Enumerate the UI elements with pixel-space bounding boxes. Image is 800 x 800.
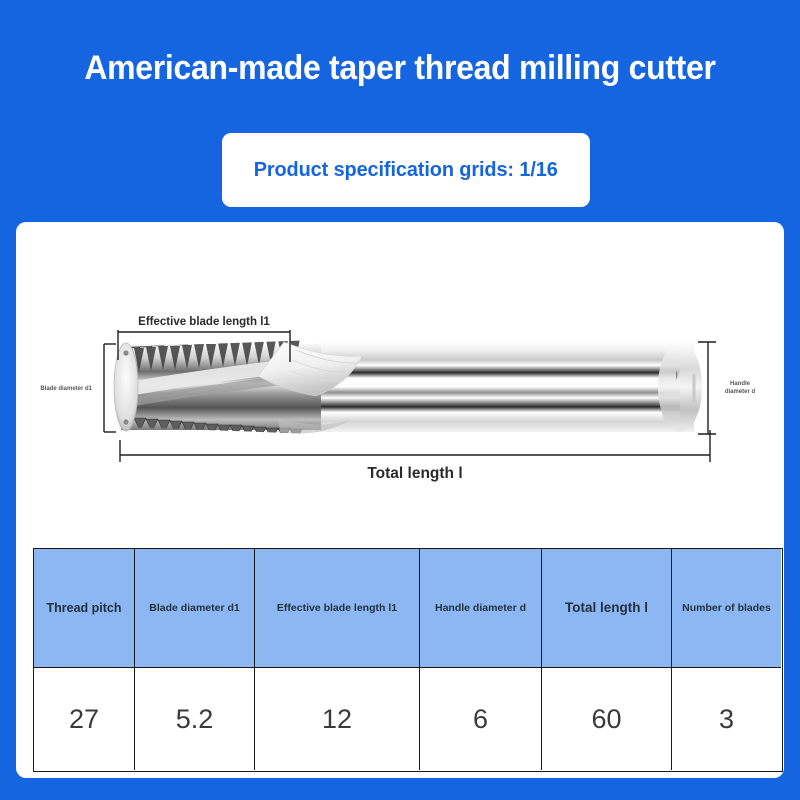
- column-header-total-length: Total length l: [542, 549, 672, 667]
- column-header-number-of-blades: Number of blades: [672, 549, 781, 667]
- value-effective-blade-length: 12: [255, 667, 420, 770]
- column-header-thread-pitch: Thread pitch: [34, 549, 135, 667]
- spec-grid-badge-label: Product specification grids: 1/16: [254, 158, 558, 182]
- value-thread-pitch: 27: [34, 667, 135, 770]
- value-blade-diameter: 5.2: [135, 667, 255, 770]
- value-number-of-blades: 3: [672, 667, 781, 770]
- table-header-row: Thread pitch Blade diameter d1 Effective…: [34, 549, 782, 667]
- value-handle-diameter: 6: [420, 667, 542, 770]
- specification-table: Thread pitch Blade diameter d1 Effective…: [33, 548, 783, 772]
- column-header-handle-diameter: Handle diameter d: [420, 549, 542, 667]
- column-header-effective-blade-length: Effective blade length l1: [255, 549, 420, 667]
- page-title: American-made taper thread milling cutte…: [62, 49, 739, 88]
- tool-illustration: [114, 328, 702, 441]
- product-spec-page: American-made taper thread milling cutte…: [0, 0, 800, 800]
- content-panel: Effective blade length l1 Blade diameter…: [16, 222, 784, 778]
- effective-blade-length-label: Effective blade length l1: [138, 316, 270, 328]
- dimension-total-length: [120, 430, 710, 462]
- table-value-row: 27 5.2 12 6 60 3: [34, 667, 782, 770]
- total-length-label: Total length l: [367, 465, 462, 482]
- spec-grid-badge[interactable]: Product specification grids: 1/16: [222, 133, 590, 207]
- value-total-length: 60: [542, 667, 672, 770]
- handle-diameter-label-line2: diameter d: [725, 389, 756, 395]
- tool-diagram: Effective blade length l1 Blade diameter…: [16, 222, 784, 532]
- handle-diameter-label-line1: Handle: [730, 381, 751, 387]
- column-header-blade-diameter: Blade diameter d1: [135, 549, 255, 667]
- blade-diameter-label: Blade diameter d1: [40, 386, 92, 392]
